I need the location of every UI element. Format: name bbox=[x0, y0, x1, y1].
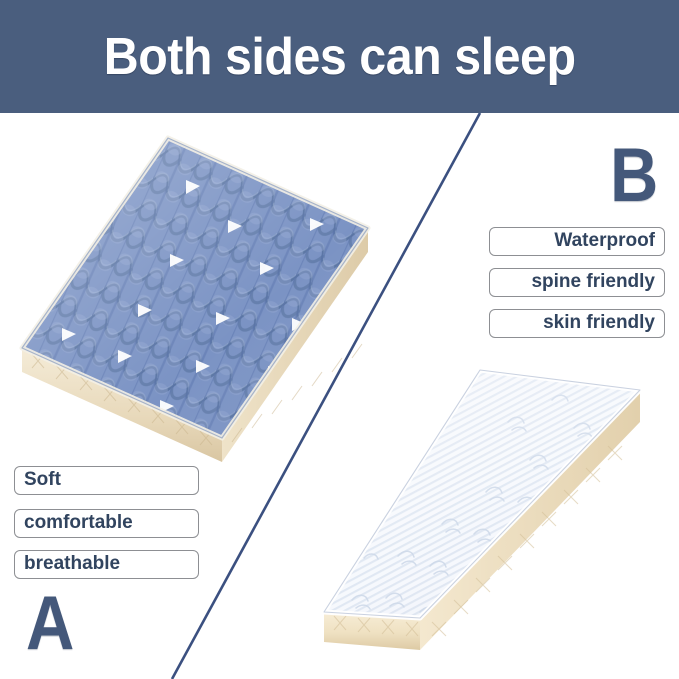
page-title: Both sides can sleep bbox=[104, 27, 576, 87]
badge-comfortable[interactable]: comfortable bbox=[14, 509, 199, 538]
badge-waterproof[interactable]: Waterproof bbox=[489, 227, 665, 256]
side-b-letter: B bbox=[610, 138, 658, 214]
product-infographic: Both sides can sleep bbox=[0, 0, 679, 679]
badge-breathable[interactable]: breathable bbox=[14, 550, 199, 579]
badge-spine-friendly[interactable]: spine friendly bbox=[489, 268, 665, 297]
side-a-letter: A bbox=[26, 586, 74, 662]
header-banner: Both sides can sleep bbox=[0, 0, 679, 113]
badge-skin-friendly[interactable]: skin friendly bbox=[489, 309, 665, 338]
badge-soft[interactable]: Soft bbox=[14, 466, 199, 495]
mattress-image-side-b bbox=[290, 360, 679, 660]
